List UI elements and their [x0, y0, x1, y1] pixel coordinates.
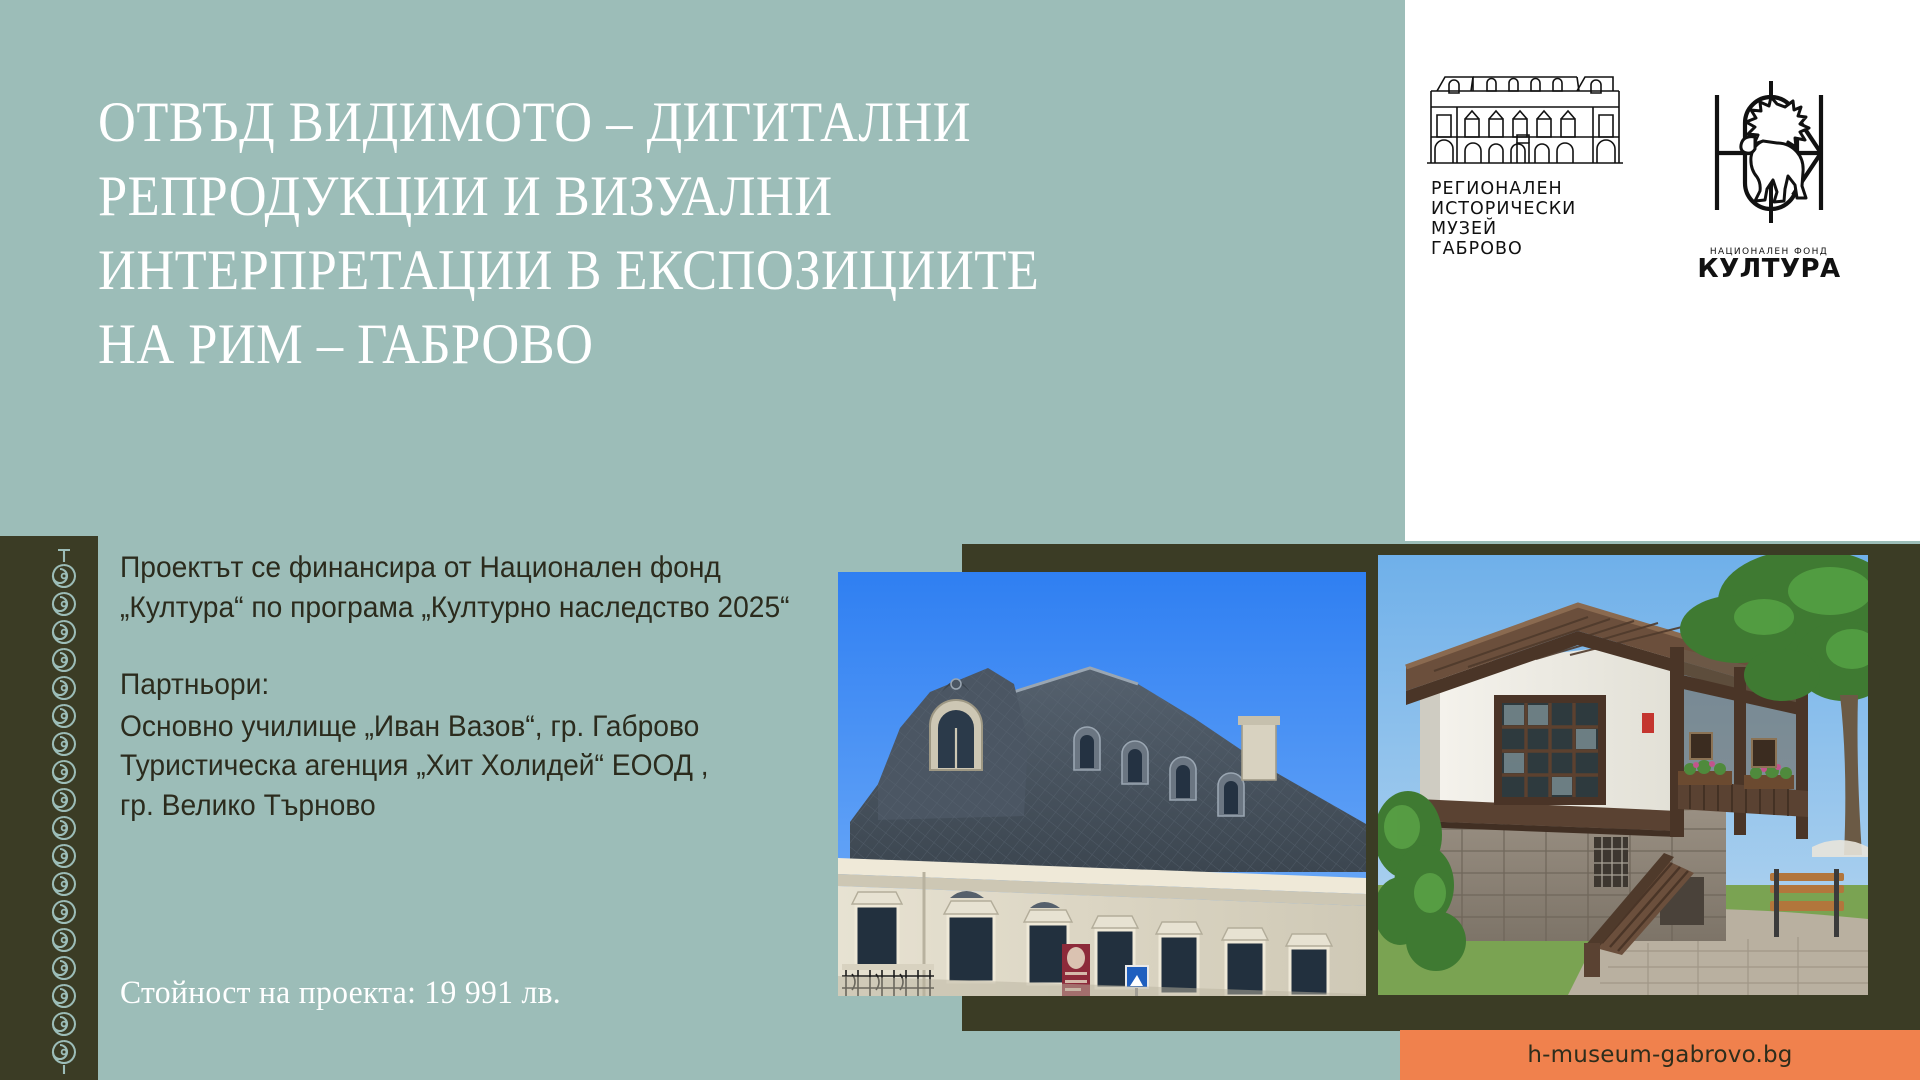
logo-national-culture-fund: НАЦИОНАЛЕН ФОНД КУЛТУРА — [1674, 65, 1864, 282]
museum-line-1: РЕГИОНАЛЕН — [1431, 180, 1640, 200]
spiral-chain-ornament-icon — [40, 546, 88, 1074]
title-line-2: РЕПРОДУКЦИИ И ВИЗУАЛНИ — [98, 160, 1276, 234]
partner-item-3: гр. Велико Търново — [120, 786, 834, 826]
poster-canvas: ОТВЪД ВИДИМОТО – ДИГИТАЛНИ РЕПРОДУКЦИИ И… — [0, 0, 1920, 1080]
museum-line-3: МУЗЕЙ — [1431, 220, 1640, 240]
nfk-name: КУЛТУРА — [1674, 256, 1864, 282]
left-decorative-strip — [0, 536, 98, 1080]
museum-building-photo — [838, 572, 1366, 996]
traditional-house-photo — [1378, 555, 1868, 995]
poster-title: ОТВЪД ВИДИМОТО – ДИГИТАЛНИ РЕПРОДУКЦИИ И… — [98, 86, 1276, 382]
title-line-4: НА РИМ – ГАБРОВО — [98, 308, 1276, 382]
project-description: Проектът се финансира от Национален фонд… — [120, 548, 880, 826]
title-line-1: ОТВЪД ВИДИМОТО – ДИГИТАЛНИ — [98, 86, 1276, 160]
funding-text: Проектът се финансира от Национален фонд… — [120, 548, 834, 627]
museum-logo-text: РЕГИОНАЛЕН ИСТОРИЧЕСКИ МУЗЕЙ ГАБРОВО — [1425, 180, 1640, 260]
partner-item-1: Основно училище „Иван Вазов“, гр. Габров… — [120, 707, 834, 747]
photo-museum-main-building — [838, 572, 1366, 996]
partner-item-2: Туристическа агенция „Хит Холидей“ ЕООД … — [120, 746, 834, 786]
title-line-3: ИНТЕРПРЕТАЦИИ В ЕКСПОЗИЦИИТЕ — [98, 234, 1276, 308]
nfk-lion-monogram-icon — [1689, 65, 1849, 240]
website-url[interactable]: h-museum-gabrovo.bg — [1527, 1042, 1792, 1068]
logo-regional-historical-museum: РЕГИОНАЛЕН ИСТОРИЧЕСКИ МУЗЕЙ ГАБРОВО — [1425, 65, 1640, 260]
website-footer-bar[interactable]: h-museum-gabrovo.bg — [1400, 1030, 1920, 1080]
partners-label: Партньори: — [120, 665, 834, 705]
museum-line-4: ГАБРОВО — [1431, 240, 1640, 260]
logo-group: РЕГИОНАЛЕН ИСТОРИЧЕСКИ МУЗЕЙ ГАБРОВО — [1425, 65, 1905, 315]
project-cost: Стойност на проекта: 19 991 лв. — [120, 975, 850, 1012]
museum-building-icon — [1425, 65, 1625, 165]
museum-line-2: ИСТОРИЧЕСКИ — [1431, 200, 1640, 220]
photo-traditional-house — [1378, 555, 1868, 995]
